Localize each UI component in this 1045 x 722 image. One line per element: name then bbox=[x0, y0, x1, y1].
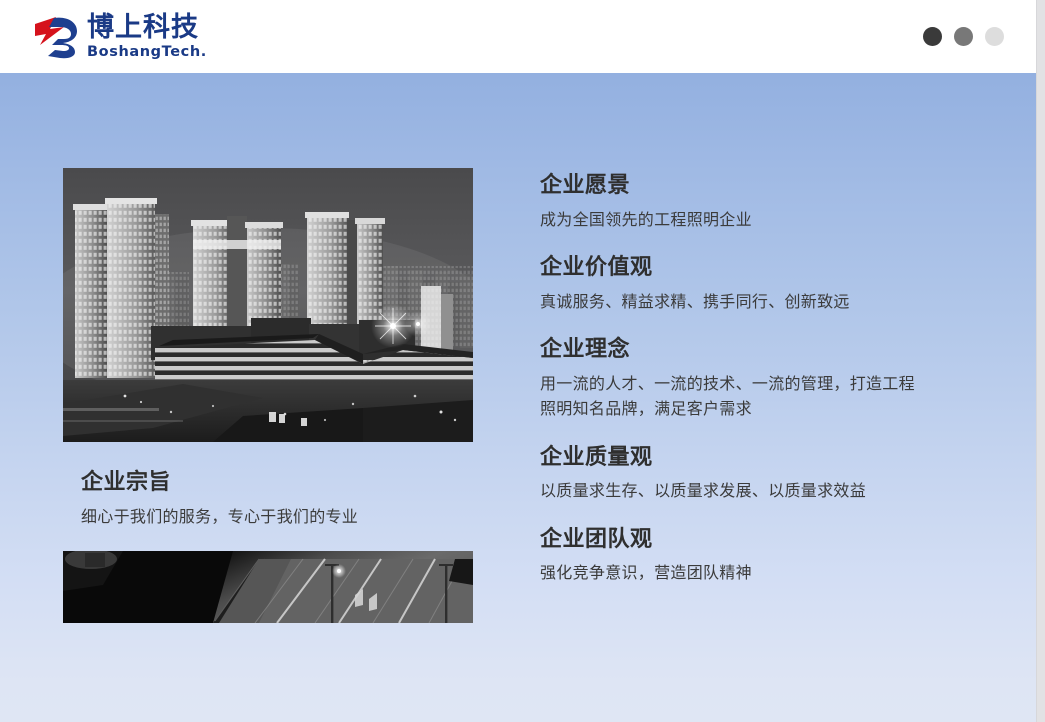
page-root: 博上科技 BoshangTech. bbox=[0, 0, 1045, 722]
left-column: 企业宗旨 细心于我们的服务，专心于我们的专业 bbox=[63, 168, 473, 623]
culture-item-team: 企业团队观 强化竞争意识，营造团队精神 bbox=[540, 527, 940, 586]
content-wrapper: 企业宗旨 细心于我们的服务，专心于我们的专业 bbox=[0, 73, 1036, 722]
culture-item-title: 企业价值观 bbox=[540, 255, 940, 282]
culture-item-body: 强化竞争意识，营造团队精神 bbox=[540, 560, 920, 585]
night-highway-photo bbox=[63, 551, 473, 623]
brand-name-en: BoshangTech. bbox=[87, 45, 207, 60]
vertical-scrollbar[interactable] bbox=[1036, 0, 1045, 722]
carousel-dot-1[interactable] bbox=[923, 27, 942, 46]
boshang-logo-mark-icon bbox=[34, 15, 80, 59]
culture-stage: 企业宗旨 细心于我们的服务，专心于我们的专业 bbox=[0, 73, 1036, 722]
culture-item-body: 以质量求生存、以质量求发展、以质量求效益 bbox=[540, 478, 920, 503]
culture-item-title: 企业愿景 bbox=[540, 173, 940, 200]
purpose-body: 细心于我们的服务，专心于我们的专业 bbox=[81, 504, 473, 529]
carousel-dot-3[interactable] bbox=[985, 27, 1004, 46]
culture-item-body: 真诚服务、精益求精、携手同行、创新致远 bbox=[540, 289, 920, 314]
culture-item-title: 企业质量观 bbox=[540, 445, 940, 472]
carousel-dots bbox=[923, 27, 1004, 46]
site-header: 博上科技 BoshangTech. bbox=[0, 0, 1036, 73]
purpose-title: 企业宗旨 bbox=[81, 470, 473, 497]
brand-wordmark: 博上科技 BoshangTech. bbox=[87, 14, 207, 59]
night-cityscape-photo bbox=[63, 168, 473, 442]
culture-item-philosophy: 企业理念 用一流的人才、一流的技术、一流的管理，打造工程照明知名品牌，满足客户需… bbox=[540, 337, 940, 421]
culture-item-vision: 企业愿景 成为全国领先的工程照明企业 bbox=[540, 173, 940, 232]
brand-name-cn: 博上科技 bbox=[87, 14, 207, 42]
right-column: 企业愿景 成为全国领先的工程照明企业 企业价值观 真诚服务、精益求精、携手同行、… bbox=[540, 173, 940, 586]
culture-item-body: 用一流的人才、一流的技术、一流的管理，打造工程照明知名品牌，满足客户需求 bbox=[540, 371, 920, 422]
culture-item-values: 企业价值观 真诚服务、精益求精、携手同行、创新致远 bbox=[540, 255, 940, 314]
culture-item-body: 成为全国领先的工程照明企业 bbox=[540, 207, 920, 232]
culture-item-quality: 企业质量观 以质量求生存、以质量求发展、以质量求效益 bbox=[540, 445, 940, 504]
culture-item-title: 企业理念 bbox=[540, 337, 940, 364]
purpose-block: 企业宗旨 细心于我们的服务，专心于我们的专业 bbox=[81, 470, 473, 529]
brand-logo-link[interactable]: 博上科技 BoshangTech. bbox=[34, 10, 207, 64]
carousel-dot-2[interactable] bbox=[954, 27, 973, 46]
culture-item-title: 企业团队观 bbox=[540, 527, 940, 554]
